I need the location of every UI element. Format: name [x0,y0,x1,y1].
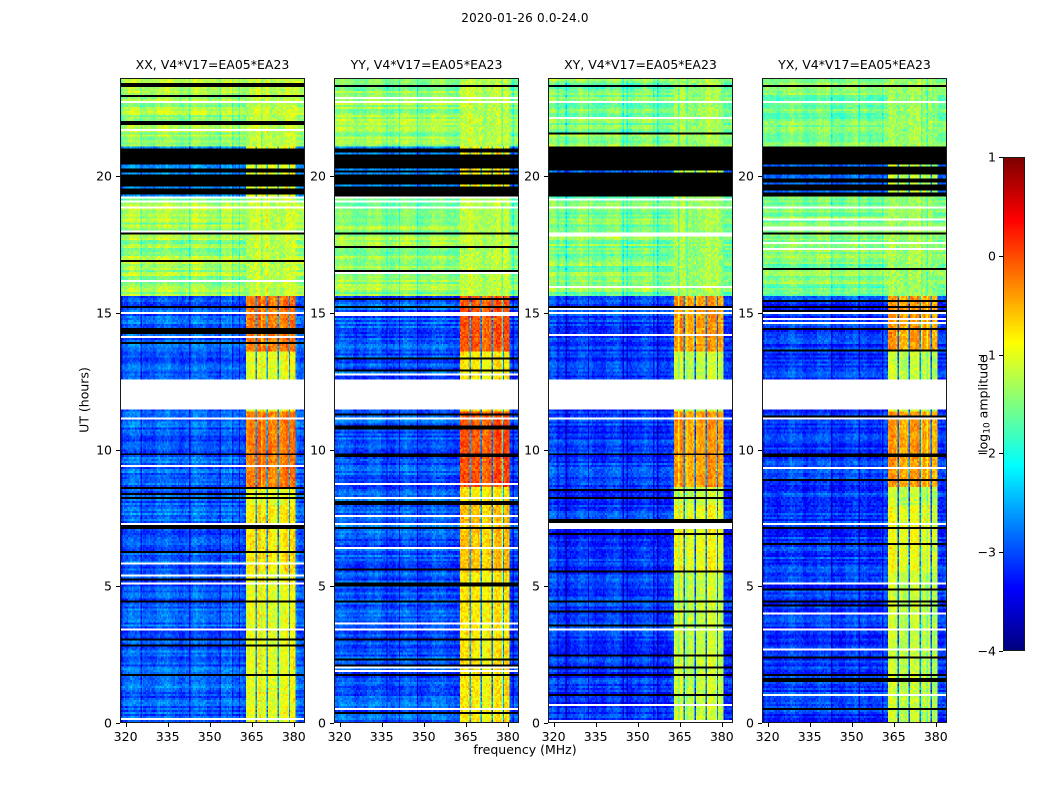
y-tick-label: 10 [76,442,112,457]
y-tick-mark [544,723,548,724]
y-tick-mark [544,176,548,177]
y-tick-mark [758,176,762,177]
x-tick-label: 380 [710,729,734,744]
y-tick-label: 5 [290,579,326,594]
y-tick-mark [116,176,120,177]
figure-suptitle: 2020-01-26 0.0-24.0 [0,11,1050,25]
colorbar-tick-mark [999,256,1003,257]
y-tick-mark [116,313,120,314]
x-tick-mark [894,723,895,727]
y-tick-mark [330,723,334,724]
y-tick-label: 0 [290,716,326,731]
y-tick-label: 5 [76,579,112,594]
panel-title-xy: XY, V4*V17=EA05*EA23 [548,57,733,72]
figure-canvas: 2020-01-26 0.0-24.0 XX, V4*V17=EA05*EA23… [0,0,1050,800]
x-tick-label: 350 [412,729,436,744]
y-tick-label: 15 [718,306,754,321]
x-tick-label: 335 [156,729,180,744]
colorbar-tick-mark [999,651,1003,652]
panel-title-xx: XX, V4*V17=EA05*EA23 [120,57,305,72]
spectrogram-panel-xx[interactable] [120,78,305,723]
y-tick-label: 0 [76,716,112,731]
x-tick-mark [852,723,853,727]
x-tick-label: 335 [798,729,822,744]
y-tick-mark [116,450,120,451]
y-tick-mark [330,313,334,314]
y-tick-mark [116,586,120,587]
x-tick-label: 380 [282,729,306,744]
y-tick-mark [330,586,334,587]
y-tick-label: 5 [718,579,754,594]
x-tick-label: 350 [626,729,650,744]
y-axis-label: UT (hours) [77,367,92,433]
y-tick-label: 15 [290,306,326,321]
x-tick-label: 320 [114,729,138,744]
y-tick-mark [758,723,762,724]
y-tick-label: 0 [718,716,754,731]
y-tick-mark [544,450,548,451]
colorbar-tick-mark [999,552,1003,553]
x-tick-mark [638,723,639,727]
x-tick-mark [126,723,127,727]
x-tick-mark [168,723,169,727]
y-tick-mark [758,313,762,314]
x-tick-mark [936,723,937,727]
x-tick-label: 380 [924,729,948,744]
y-tick-label: 20 [718,169,754,184]
y-tick-label: 15 [504,306,540,321]
x-tick-label: 365 [240,729,264,744]
y-tick-label: 10 [504,442,540,457]
x-tick-label: 320 [756,729,780,744]
colorbar-tick-mark [999,355,1003,356]
colorbar-tick-label: −4 [963,644,996,659]
x-tick-label: 350 [840,729,864,744]
x-tick-label: 350 [198,729,222,744]
y-tick-mark [330,450,334,451]
colorbar-tick-label: −1 [963,347,996,362]
y-tick-mark [544,586,548,587]
colorbar-tick-mark [999,453,1003,454]
colorbar-tick-mark [999,157,1003,158]
y-tick-label: 10 [718,442,754,457]
colorbar-tick-label: 1 [963,150,996,165]
colorbar-tick-label: −2 [963,446,996,461]
x-tick-mark [340,723,341,727]
x-tick-label: 365 [882,729,906,744]
x-tick-label: 320 [542,729,566,744]
y-tick-label: 20 [76,169,112,184]
x-tick-mark [424,723,425,727]
y-tick-mark [544,313,548,314]
x-tick-label: 365 [454,729,478,744]
colorbar[interactable] [1003,157,1025,651]
x-tick-label: 335 [584,729,608,744]
x-tick-mark [382,723,383,727]
spectrogram-panel-yy[interactable] [334,78,519,723]
x-tick-label: 320 [328,729,352,744]
spectrogram-panel-xy[interactable] [548,78,733,723]
x-tick-mark [466,723,467,727]
panel-title-yx: YX, V4*V17=EA05*EA23 [762,57,947,72]
y-tick-mark [758,450,762,451]
colorbar-label-text: log10 amplitude [975,355,990,453]
x-tick-label: 365 [668,729,692,744]
x-tick-label: 380 [496,729,520,744]
y-tick-mark [330,176,334,177]
colorbar-tick-label: 0 [963,248,996,263]
y-tick-mark [116,723,120,724]
x-tick-mark [810,723,811,727]
colorbar-tick-label: −3 [963,545,996,560]
x-axis-label: frequency (MHz) [0,742,1050,757]
y-tick-label: 15 [76,306,112,321]
y-tick-label: 20 [504,169,540,184]
y-tick-mark [758,586,762,587]
colorbar-label: log10 amplitude [975,355,992,453]
spectrogram-panel-yx[interactable] [762,78,947,723]
y-tick-label: 0 [504,716,540,731]
y-tick-label: 5 [504,579,540,594]
x-tick-mark [210,723,211,727]
x-tick-mark [768,723,769,727]
y-tick-label: 20 [290,169,326,184]
panel-title-yy: YY, V4*V17=EA05*EA23 [334,57,519,72]
x-tick-mark [554,723,555,727]
y-tick-label: 10 [290,442,326,457]
x-tick-mark [680,723,681,727]
x-tick-label: 335 [370,729,394,744]
x-tick-mark [252,723,253,727]
x-tick-mark [596,723,597,727]
